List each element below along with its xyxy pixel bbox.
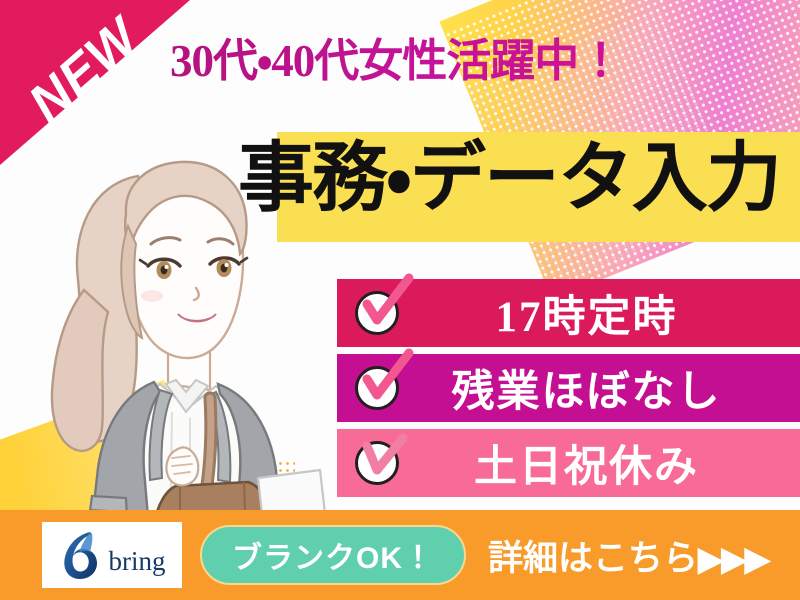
feature-row-3: 土日祝休み: [337, 429, 800, 497]
page-title: 事務・データ入力: [238, 140, 780, 220]
logo-six-icon: [59, 529, 107, 581]
cta-link[interactable]: 詳細はこちら▶▶▶: [488, 530, 768, 581]
feature-list: 17時定時 残業ほぼなし 土日祝休み: [337, 279, 800, 504]
check-circle-icon: [355, 366, 399, 410]
feature-row-2: 残業ほぼなし: [337, 354, 800, 422]
feature-row-1: 17時定時: [337, 279, 800, 347]
footer-bar: bring ブランクOK！ 詳細はこちら▶▶▶: [0, 510, 800, 600]
job-ad-banner: NEW 30代・40代女性活躍中！: [0, 0, 800, 600]
check-circle-icon: [355, 441, 399, 485]
company-logo[interactable]: bring: [42, 522, 182, 588]
cta-label: 詳細はこちら: [488, 539, 698, 578]
headline-text: 30代・40代女性活躍中！: [170, 24, 622, 89]
blank-ok-badge[interactable]: ブランクOK！: [200, 525, 466, 585]
cta-arrows-icon: ▶▶▶: [698, 540, 768, 577]
blank-ok-label: ブランクOK！: [232, 533, 434, 577]
check-circle-icon: [355, 291, 399, 335]
logo-wordmark: bring: [109, 546, 166, 577]
